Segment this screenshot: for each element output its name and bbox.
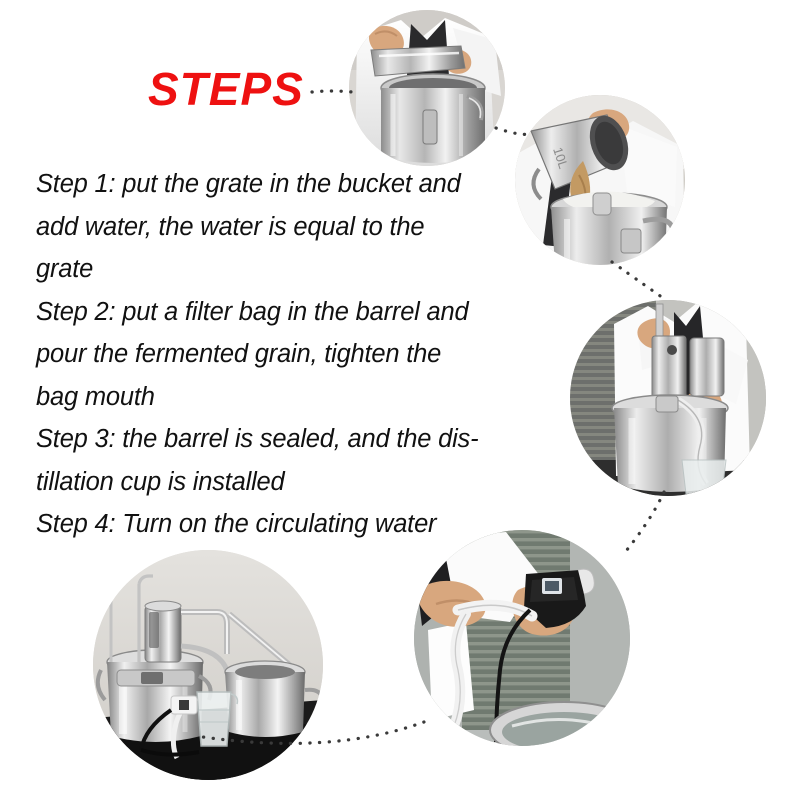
step-line: add water, the water is equal to the [36, 206, 506, 249]
step-line: Step 3: the barrel is sealed, and the di… [36, 418, 506, 461]
connector-2-to-3 [612, 262, 666, 300]
photo-step-3: 店 [570, 300, 766, 496]
step-line: Step 1: put the grate in the bucket and [36, 163, 506, 206]
page-title: STEPS [148, 66, 304, 112]
step-line: grate [36, 248, 506, 291]
connector-1-to-2 [496, 128, 530, 134]
photo-step-4 [414, 530, 630, 746]
photo-assembled-unit [93, 550, 323, 780]
step-line: tillation cup is installed [36, 461, 506, 504]
steps-text-block: Step 1: put the grate in the bucket and … [36, 163, 506, 546]
step-line: Step 2: put a filter bag in the barrel a… [36, 291, 506, 334]
step-line: Step 4: Turn on the circulating water [36, 503, 506, 546]
steps-infographic: STEPS Step 1: put the grate in the bucke… [0, 0, 800, 800]
photo-step-2: 10L [515, 95, 685, 265]
connector-title-to-1 [312, 91, 352, 92]
step-line: bag mouth [36, 376, 506, 419]
step-line: pour the fermented grain, tighten the [36, 333, 506, 376]
connector-3-to-4 [622, 492, 664, 556]
photo-step-1 [349, 10, 505, 166]
